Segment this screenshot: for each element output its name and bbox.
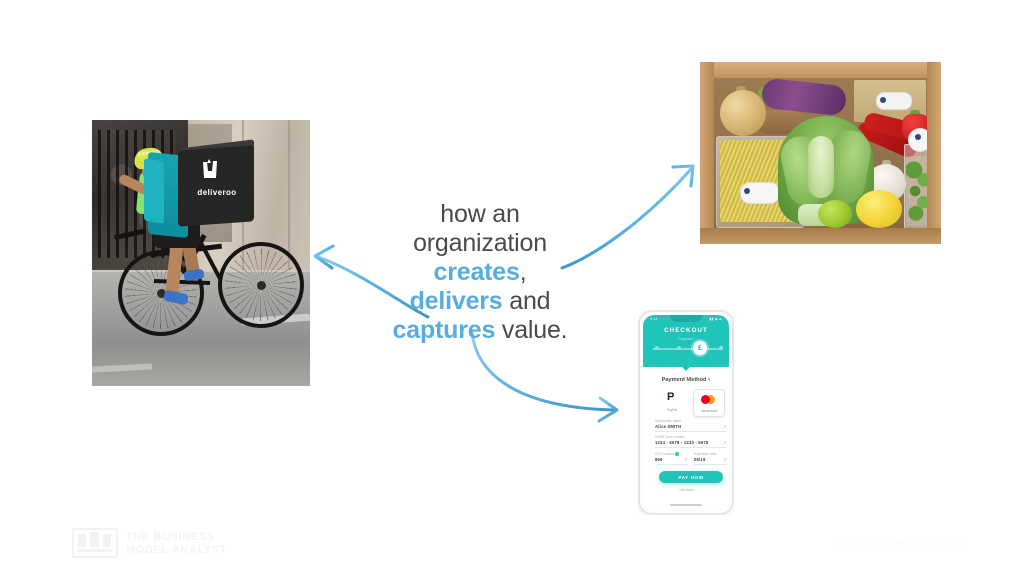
payment-method-label: Payment Method xyxy=(662,377,707,383)
valid-check-icon: ✓ xyxy=(723,440,727,446)
progress-step-dot[interactable] xyxy=(719,346,723,350)
payment-option-mastercard[interactable]: Mastercard xyxy=(693,389,725,417)
paypal-icon: P xyxy=(667,392,677,405)
footer-wordmark-line-1: THE BUSINESS xyxy=(126,531,227,544)
header-pointer-icon xyxy=(682,367,690,371)
logo-base xyxy=(77,549,112,552)
checkout-title: CHECKOUT xyxy=(643,327,729,334)
statement-line-2: organization xyxy=(352,229,608,258)
checkout-subtitle: Payment xyxy=(643,337,729,341)
bok-choy-core xyxy=(808,136,834,198)
highlight-captures: captures xyxy=(393,316,496,344)
status-bar-icons: ▮▮ ◆ ▰ xyxy=(709,317,722,321)
fresh-herbs xyxy=(906,156,927,226)
arrow-to-checkout-phone xyxy=(470,330,630,430)
valid-check-icon: ✓ xyxy=(684,457,688,463)
field-underline xyxy=(655,431,727,432)
progress-track xyxy=(653,348,723,350)
card-number-field[interactable]: Credit Card number 1234 - 5678 - 1234 - … xyxy=(655,435,727,448)
lemon xyxy=(856,190,902,228)
footer-wordmark-line-2: MODEL ANALYST xyxy=(126,544,227,557)
cvv-value: 869 xyxy=(655,457,688,462)
statement-line-1: how an xyxy=(352,200,608,229)
logo-bar xyxy=(78,534,86,547)
mastercard-icon xyxy=(706,395,715,404)
statement-line-5: captures value. xyxy=(352,316,608,345)
mastercard-label: Mastercard xyxy=(694,409,724,413)
bicycle-front-wheel xyxy=(218,242,304,328)
delivery-backpack-edge xyxy=(144,158,164,223)
cvv-label-text: CCV number xyxy=(655,452,674,456)
deliveroo-wordmark: deliveroo xyxy=(188,188,246,197)
image-meal-kit-box xyxy=(698,58,943,248)
field-underline xyxy=(694,464,727,465)
valid-check-icon: ✓ xyxy=(723,424,727,430)
deliveroo-kangaroo-icon xyxy=(198,158,222,182)
cardholder-name-field[interactable]: Cardholder name Alice SMITH ✓ xyxy=(655,419,727,432)
chevron-down-icon[interactable]: ▾ xyxy=(708,377,710,382)
image-checkout-phone: 9:41 ▮▮ ◆ ▰ CHECKOUT Payment ₤ Payment M… xyxy=(638,310,734,515)
valid-check-icon: ✓ xyxy=(723,457,727,463)
phone-notch xyxy=(670,315,702,322)
brand-logo-dot xyxy=(744,188,750,194)
slide-canvas: deliveroo xyxy=(0,0,1024,576)
footer-url: businessmodelanalyst.com xyxy=(834,538,968,550)
brand-logo-dot xyxy=(915,134,921,140)
box-interior xyxy=(714,78,927,228)
box-rim-top xyxy=(700,62,941,78)
box-rim-right xyxy=(927,62,941,244)
lime xyxy=(818,200,852,228)
footer-wordmark: THE BUSINESS MODEL ANALYST xyxy=(126,531,227,557)
cvv-label: CCV number i xyxy=(655,452,688,456)
home-indicator xyxy=(670,504,702,506)
payment-method-heading: Payment Method ▾ xyxy=(643,377,729,383)
arrow-head xyxy=(599,398,617,421)
highlight-creates: creates xyxy=(434,258,520,286)
checkout-header: 9:41 ▮▮ ◆ ▰ CHECKOUT Payment ₤ xyxy=(643,315,729,367)
logo-bar xyxy=(90,532,99,547)
expiry-label: Expiration date xyxy=(694,452,727,456)
statement-line-3: creates, xyxy=(352,258,608,287)
field-underline xyxy=(655,464,688,465)
field-underline xyxy=(655,447,727,448)
cvv-field[interactable]: CCV number i 869 ✓ xyxy=(655,452,688,465)
status-bar-time: 9:41 xyxy=(650,317,658,321)
image-delivery-cyclist: deliveroo xyxy=(92,120,310,386)
box-rim-bottom xyxy=(700,228,941,244)
highlight-delivers: delivers xyxy=(410,287,503,315)
brand-logo-dot xyxy=(880,97,886,103)
cardholder-name-value: Alice SMITH xyxy=(655,424,727,429)
card-number-label: Credit Card number xyxy=(655,435,727,439)
paypal-label: PayPal xyxy=(657,408,687,412)
progress-step-dot[interactable] xyxy=(677,346,681,350)
progress-step-dot[interactable] xyxy=(655,346,659,350)
onion xyxy=(720,90,766,136)
arrow-head xyxy=(673,166,693,186)
phone-body: 9:41 ▮▮ ◆ ▰ CHECKOUT Payment ₤ Payment M… xyxy=(638,310,734,515)
expiry-field[interactable]: Expiration date 05/19 ✓ xyxy=(694,452,727,465)
cardholder-name-label: Cardholder name xyxy=(655,419,727,423)
value-statement: how an organization creates, delivers an… xyxy=(352,200,608,345)
statement-line-4: delivers and xyxy=(352,287,608,316)
statement-and: and xyxy=(503,287,551,315)
logo-bar xyxy=(103,534,111,547)
wheel-hub xyxy=(257,281,266,290)
statement-value: value. xyxy=(495,316,567,344)
box-rim-left xyxy=(700,62,714,244)
card-number-value: 1234 - 5678 - 1234 - 5678 xyxy=(655,440,727,445)
herb-brand-label xyxy=(908,128,927,152)
statement-comma: , xyxy=(520,258,527,286)
progress-current-step: ₤ xyxy=(693,341,707,355)
arrow-head xyxy=(315,246,333,268)
expiry-value: 05/19 xyxy=(694,457,727,462)
payment-option-paypal[interactable]: P PayPal xyxy=(657,389,687,415)
payment-method-options: P PayPal Mastercard xyxy=(657,389,725,415)
pay-now-button[interactable]: PAY NOW xyxy=(659,471,723,483)
go-back-link[interactable]: ‹ Go back xyxy=(643,488,729,492)
business-model-analyst-logo-icon xyxy=(72,528,118,558)
payment-step-icon: ₤ xyxy=(693,341,707,355)
phone-screen: 9:41 ▮▮ ◆ ▰ CHECKOUT Payment ₤ Payment M… xyxy=(643,315,729,510)
info-icon[interactable]: i xyxy=(675,452,679,456)
